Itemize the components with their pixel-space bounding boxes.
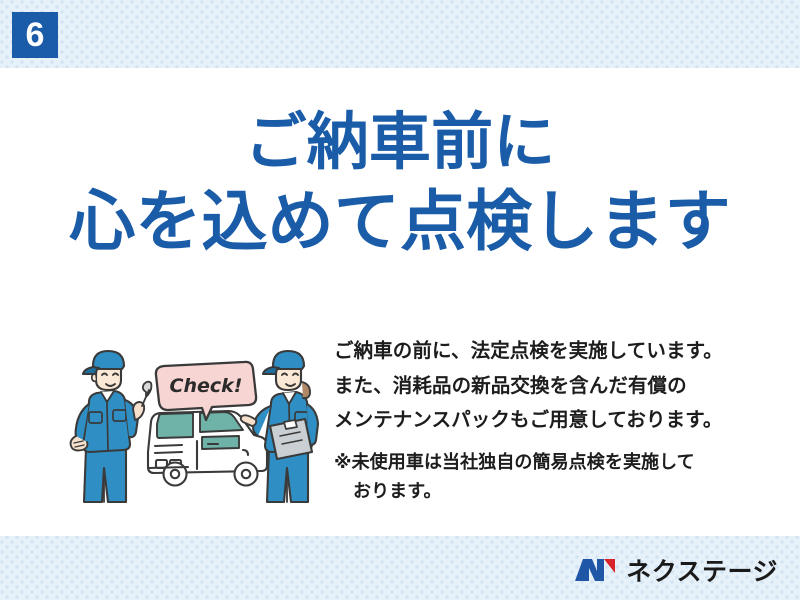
description-line-2: また、消耗品の新品交換を含んだ有償の: [334, 369, 770, 404]
step-number-label: 6: [26, 18, 45, 52]
nexstage-n-mark-icon: [573, 557, 617, 588]
footnote-marker: ※: [334, 452, 352, 472]
brand-logo: ネクステージ: [573, 557, 778, 588]
page-title-line-2: 心を込めて点検します: [0, 185, 800, 259]
brand-logo-text: ネクステージ: [626, 560, 778, 585]
page-title: ご納車前に 心を込めて点検します: [0, 108, 800, 259]
mechanics-illustration: Check!: [56, 340, 336, 510]
description-line-1: ご納車の前に、法定点検を実施しています。: [334, 334, 770, 369]
step-number-badge: 6: [12, 12, 58, 58]
promo-page: 6 ご納車前に 心を込めて点検します: [0, 0, 800, 600]
content-card: ご納車前に 心を込めて点検します: [0, 68, 800, 536]
description-block: ご納車の前に、法定点検を実施しています。 また、消耗品の新品交換を含んだ有償の …: [334, 334, 770, 506]
speech-bubble-label: Check!: [170, 375, 243, 397]
description-line-3: メンテナンスパックもご用意しております。: [334, 403, 770, 438]
page-title-line-1: ご納車前に: [0, 108, 800, 177]
male-mechanic: [71, 351, 152, 502]
footnote: ※未使用車は当社独自の簡易点検を実施して おります。: [334, 448, 770, 506]
footnote-line-2: おります。: [334, 477, 770, 506]
footnote-line-1: 未使用車は当社独自の簡易点検を実施して: [352, 452, 695, 472]
